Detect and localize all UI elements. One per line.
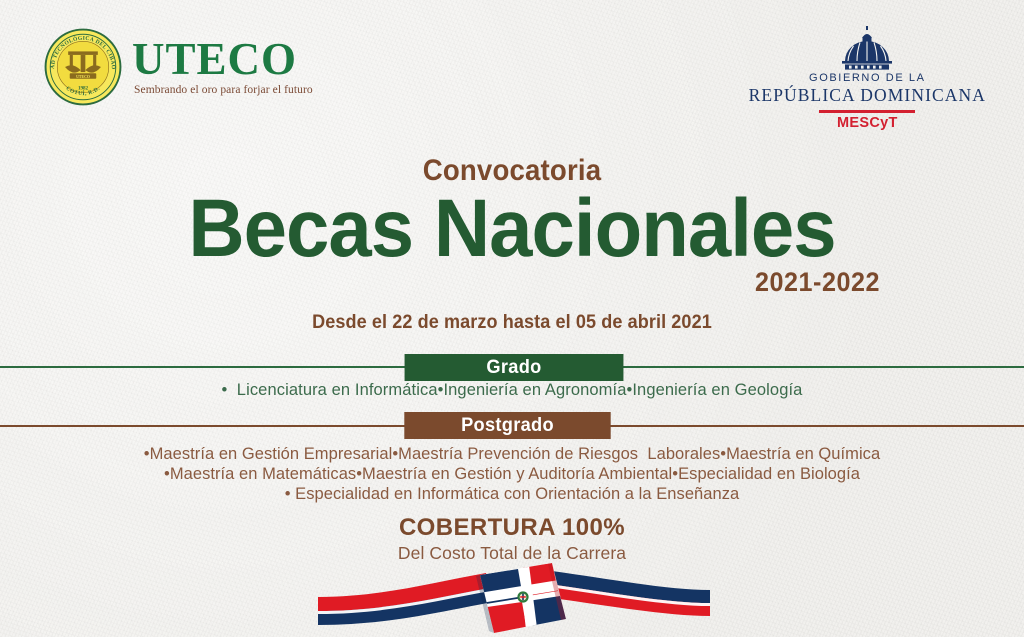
postgrado-program-line: • Especialidad en Informática con Orient…	[0, 484, 1024, 504]
title-years: 2021-2022	[32, 267, 880, 298]
postgrado-program-line: •Maestría en Matemáticas•Maestría en Ges…	[0, 464, 1024, 484]
gov-line-republica: REPÚBLICA DOMINICANA	[749, 85, 986, 106]
grado-program-list: • Licenciatura en Informática•Ingeniería…	[0, 381, 1024, 400]
dominican-flag-ribbon-icon	[290, 557, 734, 637]
university-seal-icon: UNIVERSIDAD TECNOLÓGICA DEL CIBAO ORIENT…	[44, 28, 122, 106]
uteco-tagline: Sembrando el oro para forjar el futuro	[134, 84, 313, 96]
section-header-postgrado: Postgrado	[404, 412, 610, 439]
gov-divider	[819, 110, 915, 113]
uteco-name: UTECO	[132, 38, 313, 81]
page-title: Becas Nacionales	[26, 190, 999, 269]
uteco-wordmark: UTECO Sembrando el oro para forjar el fu…	[132, 38, 313, 96]
title-block: Convocatoria Becas Nacionales 2021-2022	[0, 154, 1024, 298]
gov-agency-mescyt: MESCyT	[749, 115, 986, 131]
svg-text:1982: 1982	[78, 86, 89, 92]
svg-text:UTECO: UTECO	[76, 75, 90, 79]
grado-program-line: • Licenciatura en Informática•Ingeniería…	[0, 381, 1024, 400]
gov-line-gobierno: GOBIERNO DE LA	[749, 72, 986, 84]
section-header-grado: Grado	[405, 354, 624, 381]
application-period: Desde el 22 de marzo hasta el 05 de abri…	[26, 312, 999, 334]
government-logo: GOBIERNO DE LA REPÚBLICA DOMINICANA MESC…	[749, 26, 986, 131]
postgrado-program-list: •Maestría en Gestión Empresarial•Maestrí…	[0, 444, 1024, 504]
postgrado-program-line: •Maestría en Gestión Empresarial•Maestrí…	[0, 444, 1024, 464]
poster-canvas: UNIVERSIDAD TECNOLÓGICA DEL CIBAO ORIENT…	[0, 0, 1024, 637]
uteco-logo: UNIVERSIDAD TECNOLÓGICA DEL CIBAO ORIENT…	[44, 28, 313, 106]
coverage-headline: COBERTURA 100%	[0, 514, 1024, 542]
capitol-dome-icon	[836, 26, 898, 70]
